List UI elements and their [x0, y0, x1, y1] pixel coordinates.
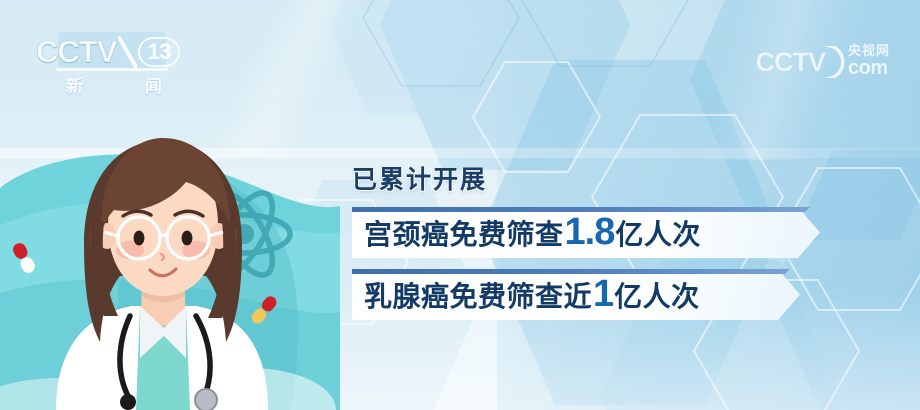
stethoscope-chestpiece — [195, 389, 217, 410]
watermark-domain-text: com — [848, 58, 888, 78]
statistic-row: 宫颈癌免费筛查 1.8 亿人次 — [352, 207, 820, 258]
statistic-value: 1.8 — [565, 211, 615, 254]
light-streak — [620, 0, 920, 160]
logo-name-char-1: 新 — [66, 72, 83, 97]
logo-channel-name: 新 闻 — [66, 72, 162, 97]
stethoscope-earpiece — [120, 394, 136, 410]
broadcast-graphic: CCTV 13 新 闻 CCTV 央视网 com 已累计开展 宫颈癌免费筛查 1 — [0, 0, 920, 410]
statistic-label-suffix: 亿人次 — [614, 275, 700, 315]
logo-channel-number: 13 — [148, 39, 171, 65]
statistic-label-prefix: 乳腺癌免费筛查近 — [364, 275, 592, 315]
watermark-network-text: CCTV — [755, 47, 825, 78]
eye — [182, 231, 193, 246]
logo-network-text: CCTV — [36, 34, 116, 70]
statistic-value: 1 — [593, 273, 613, 316]
logo-name-char-2: 闻 — [145, 72, 162, 97]
watermark-arc-icon — [826, 46, 846, 78]
statistics-block: 已累计开展 宫颈癌免费筛查 1.8 亿人次 乳腺癌免费筛查近 1 亿人次 — [352, 160, 897, 331]
statistic-row: 乳腺癌免费筛查近 1 亿人次 — [352, 269, 800, 320]
eye — [134, 231, 145, 246]
watermark-chinese-name: 央视网 — [848, 44, 890, 58]
logo-underline — [56, 68, 168, 71]
statistic-label-suffix: 亿人次 — [615, 213, 701, 253]
logo-slash-icon — [118, 36, 137, 69]
female-doctor-illustration — [0, 110, 340, 410]
cctv-com-watermark: CCTV 央视网 com — [755, 38, 890, 78]
page-title: 已累计开展 — [352, 160, 897, 196]
statistic-label-prefix: 宫颈癌免费筛查 — [364, 213, 564, 253]
statistic-row-label: 宫颈癌免费筛查 1.8 亿人次 — [352, 211, 701, 254]
logo-channel-badge: 13 — [138, 37, 180, 67]
statistic-row-label: 乳腺癌免费筛查近 1 亿人次 — [352, 273, 700, 316]
cctv13-news-logo: CCTV 13 新 闻 — [36, 32, 186, 94]
